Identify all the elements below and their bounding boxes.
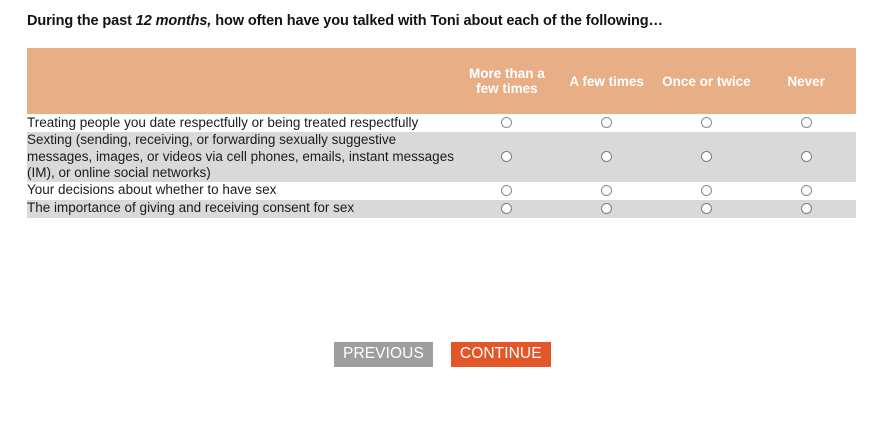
radio-cell-row2-a-few-times[interactable]	[557, 132, 657, 182]
radio-button[interactable]	[601, 151, 612, 162]
radio-cell-row3-once-or-twice[interactable]	[657, 182, 757, 200]
radio-button[interactable]	[601, 117, 612, 128]
question-lead: During the past	[27, 13, 136, 29]
row-label-sexting: Sexting (sending, receiving, or forwardi…	[27, 132, 457, 182]
row-label-treating-people-respectfully: Treating people you date respectfully or…	[27, 114, 457, 132]
radio-cell-row4-never[interactable]	[756, 200, 856, 218]
navigation-button-bar: PREVIOUS CONTINUE	[334, 342, 551, 367]
radio-button[interactable]	[601, 185, 612, 196]
page-title: During the past 12 months, how often hav…	[27, 13, 847, 29]
radio-cell-row3-more-than-a-few-times[interactable]	[457, 182, 557, 200]
table-row: Treating people you date respectfully or…	[27, 114, 856, 132]
radio-cell-row2-never[interactable]	[756, 132, 856, 182]
table-row: Your decisions about whether to have sex	[27, 182, 856, 200]
table-row: Sexting (sending, receiving, or forwardi…	[27, 132, 856, 182]
radio-button[interactable]	[801, 203, 812, 214]
row-label-consent-for-sex: The importance of giving and receiving c…	[27, 200, 457, 218]
radio-cell-row1-never[interactable]	[756, 114, 856, 132]
header-corner-blank	[27, 48, 457, 114]
radio-cell-row1-more-than-a-few-times[interactable]	[457, 114, 557, 132]
radio-cell-row4-a-few-times[interactable]	[557, 200, 657, 218]
radio-cell-row2-once-or-twice[interactable]	[657, 132, 757, 182]
table-row: The importance of giving and receiving c…	[27, 200, 856, 218]
radio-button[interactable]	[501, 151, 512, 162]
radio-cell-row3-never[interactable]	[756, 182, 856, 200]
row-label-decisions-about-sex: Your decisions about whether to have sex	[27, 182, 457, 200]
radio-cell-row1-a-few-times[interactable]	[557, 114, 657, 132]
radio-button[interactable]	[501, 203, 512, 214]
column-header-never: Never	[756, 48, 856, 114]
radio-button[interactable]	[501, 185, 512, 196]
question-matrix-table: More than a few times A few times Once o…	[27, 48, 856, 218]
table-header-row: More than a few times A few times Once o…	[27, 48, 856, 114]
previous-button[interactable]: PREVIOUS	[334, 342, 433, 367]
radio-cell-row4-more-than-a-few-times[interactable]	[457, 200, 557, 218]
continue-button[interactable]: CONTINUE	[451, 342, 551, 367]
column-header-once-or-twice: Once or twice	[657, 48, 757, 114]
radio-button[interactable]	[801, 185, 812, 196]
radio-button[interactable]	[701, 185, 712, 196]
radio-cell-row3-a-few-times[interactable]	[557, 182, 657, 200]
column-header-more-than-a-few-times: More than a few times	[457, 48, 557, 114]
radio-button[interactable]	[701, 151, 712, 162]
radio-button[interactable]	[501, 117, 512, 128]
question-trail: how often have you talked with Toni abou…	[211, 13, 663, 29]
column-header-a-few-times: A few times	[557, 48, 657, 114]
radio-button[interactable]	[601, 203, 612, 214]
radio-cell-row4-once-or-twice[interactable]	[657, 200, 757, 218]
radio-cell-row1-once-or-twice[interactable]	[657, 114, 757, 132]
radio-button[interactable]	[801, 117, 812, 128]
radio-button[interactable]	[801, 151, 812, 162]
radio-cell-row2-more-than-a-few-times[interactable]	[457, 132, 557, 182]
radio-button[interactable]	[701, 203, 712, 214]
radio-button[interactable]	[701, 117, 712, 128]
question-emphasis: 12 months,	[136, 13, 212, 29]
